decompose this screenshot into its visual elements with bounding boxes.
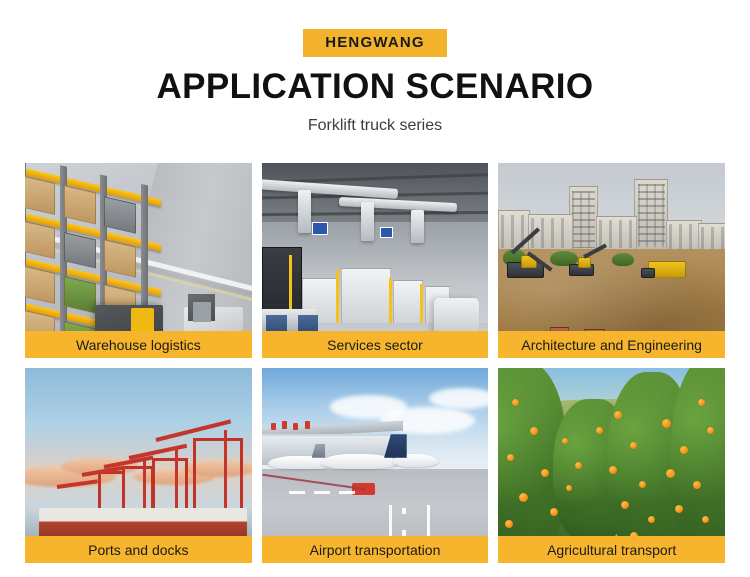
orchard-photo (498, 368, 725, 563)
scenario-card-agricultural-transport[interactable]: Agricultural transport (498, 368, 725, 563)
card-caption: Services sector (262, 331, 489, 358)
port-photo (25, 368, 252, 563)
factory-photo (262, 163, 489, 358)
scenario-grid: Warehouse logistics (25, 163, 725, 563)
card-caption: Airport transportation (262, 536, 489, 563)
airport-photo (262, 368, 489, 563)
scenario-card-services-sector[interactable]: Services sector (262, 163, 489, 358)
warehouse-photo (25, 163, 252, 358)
scenario-card-airport-transportation[interactable]: Airport transportation (262, 368, 489, 563)
page-title: APPLICATION SCENARIO (0, 69, 750, 106)
card-caption: Ports and docks (25, 536, 252, 563)
card-caption: Agricultural transport (498, 536, 725, 563)
construction-photo (498, 163, 725, 358)
card-caption: Warehouse logistics (25, 331, 252, 358)
application-scenario-banner: HENGWANG APPLICATION SCENARIO Forklift t… (0, 0, 750, 577)
page-header: HENGWANG APPLICATION SCENARIO Forklift t… (0, 0, 750, 135)
page-subtitle: Forklift truck series (0, 117, 750, 135)
scenario-card-warehouse-logistics[interactable]: Warehouse logistics (25, 163, 252, 358)
scenario-card-architecture-engineering[interactable]: Architecture and Engineering (498, 163, 725, 358)
brand-badge: HENGWANG (303, 29, 447, 57)
cargo-ship (39, 508, 248, 539)
card-caption: Architecture and Engineering (498, 331, 725, 358)
scenario-card-ports-and-docks[interactable]: Ports and docks (25, 368, 252, 563)
